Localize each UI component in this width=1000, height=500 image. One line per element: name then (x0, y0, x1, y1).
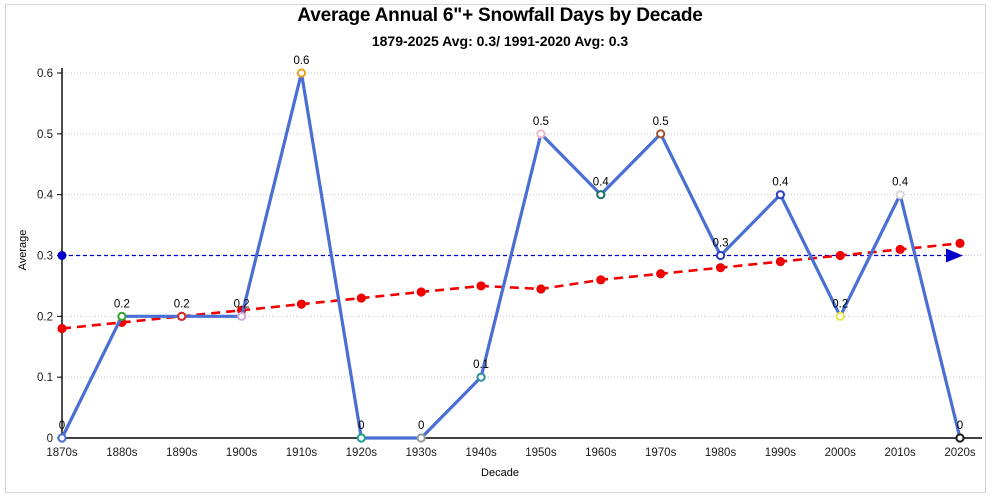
data-point-label: 0.2 (234, 298, 250, 310)
y-axis-tick-label: 0.1 (37, 372, 53, 384)
data-point-marker[interactable] (717, 252, 724, 259)
data-point-label: 0 (59, 420, 65, 432)
y-axis-tick-label: 0.6 (37, 68, 53, 80)
x-axis-tick-label: 1980s (705, 447, 737, 459)
data-point-marker[interactable] (537, 130, 544, 137)
data-point-label: 0.6 (293, 55, 309, 67)
data-point-marker[interactable] (118, 313, 125, 320)
data-point-marker[interactable] (837, 313, 844, 320)
x-axis-tick-labels-group: 1870s1880s1890s1900s1910s1920s1930s1940s… (46, 447, 976, 459)
x-axis-tick-label: 2010s (884, 447, 916, 459)
data-point-label: 0.4 (593, 177, 610, 189)
x-axis-title: Decade (481, 467, 519, 479)
gridlines-group (62, 73, 982, 377)
x-axis-tick-label: 1900s (226, 447, 258, 459)
x-axis-tick-label: 1950s (525, 447, 557, 459)
data-point-marker[interactable] (58, 434, 65, 441)
data-point-marker[interactable] (956, 434, 963, 441)
x-axis-tick-label: 1930s (406, 447, 438, 459)
data-point-marker[interactable] (238, 313, 245, 320)
chart-plot-area: 00.10.20.30.40.50.6 1870s1880s1890s1900s… (0, 0, 1000, 500)
y-axis-tick-labels-group: 00.10.20.30.40.50.6 (37, 68, 54, 445)
y-axis-tick-label: 0.5 (37, 129, 53, 141)
data-point-label: 0 (358, 420, 364, 432)
x-axis-tick-label: 2020s (944, 447, 976, 459)
x-axis-tick-label: 1940s (465, 447, 497, 459)
chart-container: Average Annual 6"+ Snowfall Days by Deca… (0, 0, 1000, 500)
data-point-label: 0.1 (473, 359, 489, 371)
data-point-marker[interactable] (298, 69, 305, 76)
y-axis-title: Average (17, 230, 29, 271)
x-axis-tick-label: 1920s (346, 447, 378, 459)
data-point-label: 0.2 (832, 298, 848, 310)
data-point-label: 0.3 (713, 238, 729, 250)
x-axis-tick-label: 1990s (765, 447, 797, 459)
y-axis-tick-label: 0 (47, 433, 53, 445)
data-point-marker[interactable] (418, 434, 425, 441)
data-point-marker[interactable] (657, 130, 664, 137)
data-point-labels-group: 00.20.20.20.6000.10.50.40.50.30.40.20.40 (59, 55, 963, 432)
data-point-label: 0.2 (174, 298, 190, 310)
x-axis-tick-label: 1890s (166, 447, 198, 459)
x-axis-tick-label: 1910s (286, 447, 318, 459)
data-point-label: 0.4 (772, 177, 789, 189)
x-axis-tick-label: 1870s (46, 447, 78, 459)
x-axis-tick-label: 1880s (106, 447, 138, 459)
data-point-label: 0.2 (114, 298, 130, 310)
data-point-marker[interactable] (777, 191, 784, 198)
y-axis-tick-label: 0.4 (37, 190, 54, 202)
data-point-marker[interactable] (597, 191, 604, 198)
x-axis-tick-label: 1970s (645, 447, 677, 459)
data-point-label: 0.5 (653, 116, 669, 128)
y-axis-tick-label: 0.2 (37, 311, 53, 323)
data-point-marker[interactable] (178, 313, 185, 320)
data-point-label: 0 (957, 420, 963, 432)
x-axis-tick-label: 2000s (825, 447, 857, 459)
data-point-label: 0.5 (533, 116, 549, 128)
y-axis-tick-label: 0.3 (37, 251, 53, 263)
data-point-label: 0 (418, 420, 424, 432)
data-point-marker[interactable] (358, 434, 365, 441)
x-axis-tick-label: 1960s (585, 447, 617, 459)
data-point-marker[interactable] (477, 374, 484, 381)
data-point-label: 0.4 (892, 177, 909, 189)
data-point-marker[interactable] (897, 191, 904, 198)
